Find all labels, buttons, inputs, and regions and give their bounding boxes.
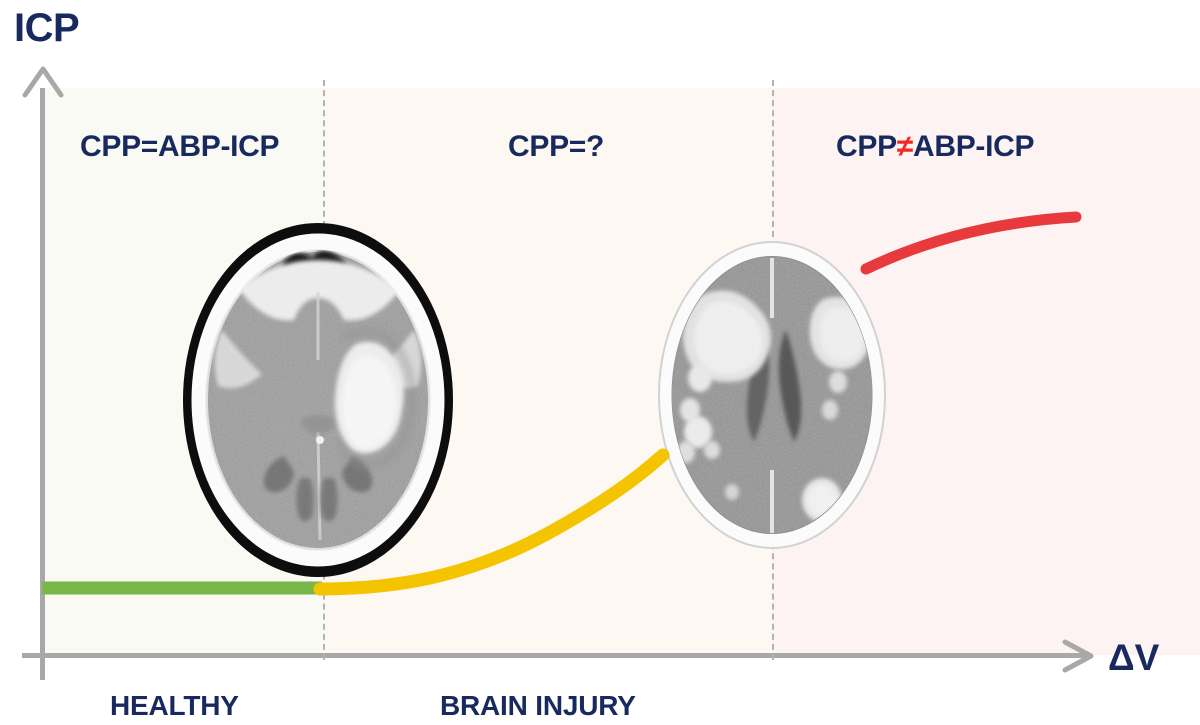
zone-equation-healthy: CPP=ABP-ICP [80,130,279,164]
icp-volume-curve [0,0,1200,725]
icp-volume-curve-figure: ICP ΔV [0,0,1200,725]
zone-label-healthy: HEALTHY [110,690,239,722]
not-equal-icon: ≠ [897,130,913,163]
zone-equation-severe: CPP≠ABP-ICP [836,130,1034,164]
zone-equation-brain-injury: CPP=? [508,130,604,164]
zone-equation-severe-prefix: CPP [836,130,897,163]
zone-label-brain-injury: BRAIN INJURY [440,690,636,722]
curve-segment-yellow [320,455,663,589]
curve-segment-red [866,217,1076,269]
zone-equation-severe-suffix: ABP-ICP [913,130,1034,163]
